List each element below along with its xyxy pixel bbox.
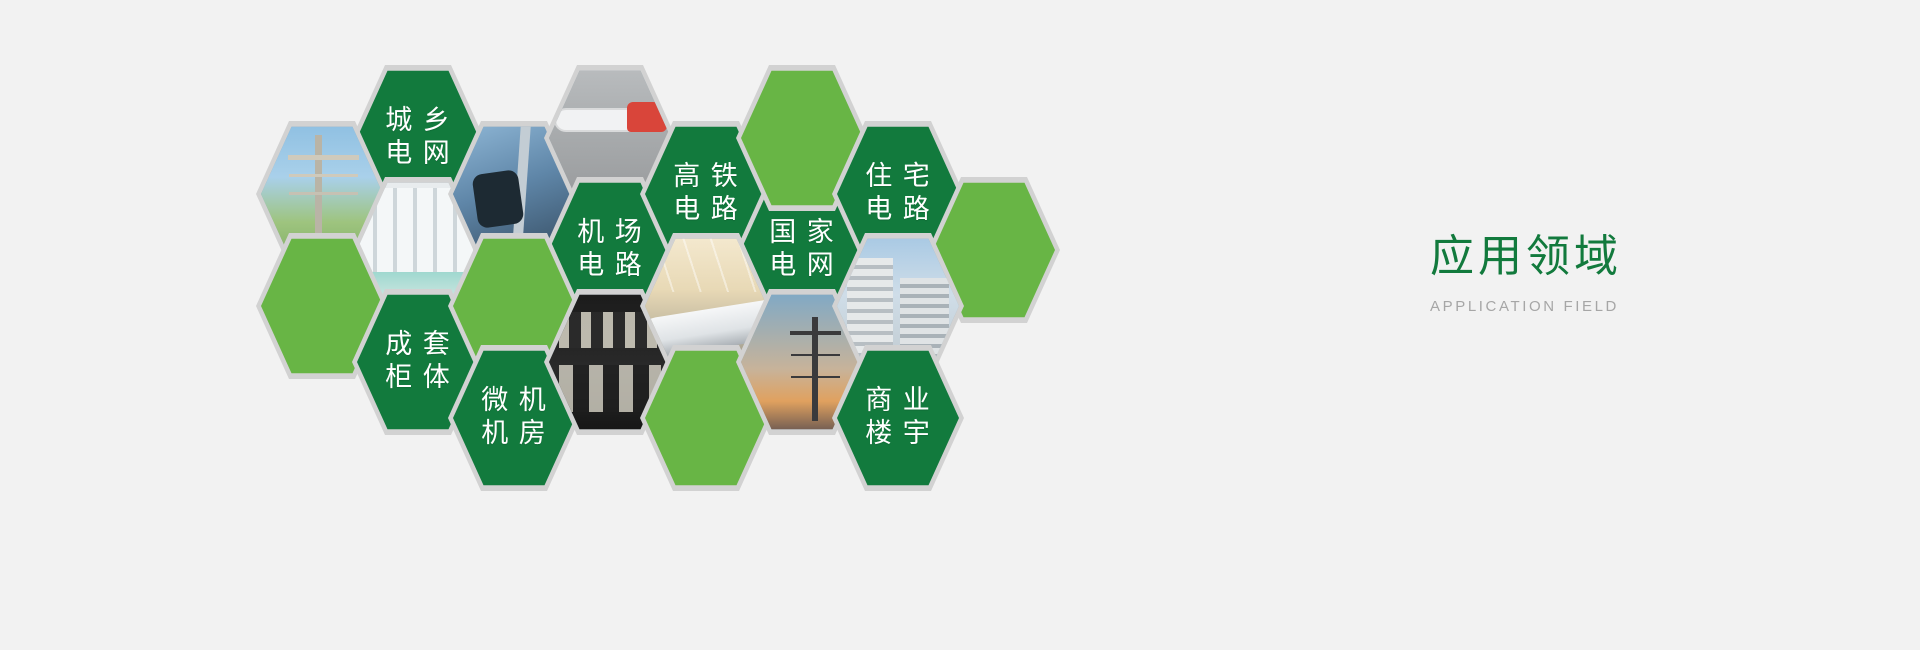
- hex-label: 国 家 电 网: [769, 217, 835, 283]
- hex-label: 商 业 楼 宇: [865, 385, 931, 451]
- heading-block: 应用领域 APPLICATION FIELD: [1430, 220, 1622, 315]
- hex-label: 住 宅 电 路: [865, 161, 931, 227]
- page-title: 应用领域: [1430, 220, 1622, 284]
- hex-label: 微 机 机 房: [481, 385, 547, 451]
- hex-label: 城 乡 电 网: [385, 105, 451, 171]
- hex-label: 高 铁 电 路: [673, 161, 739, 227]
- hex-fill: 商 业 楼 宇: [837, 348, 959, 488]
- page-subtitle: APPLICATION FIELD: [1430, 298, 1622, 315]
- hex-label: 成 套 柜 体: [385, 329, 451, 395]
- hex-label: 机 场 电 路: [577, 217, 643, 283]
- application-field-banner: 城 乡 电 网机 场 电 路高 铁 电 路国 家 电 网住 宅 电 路成 套 柜…: [0, 0, 1920, 650]
